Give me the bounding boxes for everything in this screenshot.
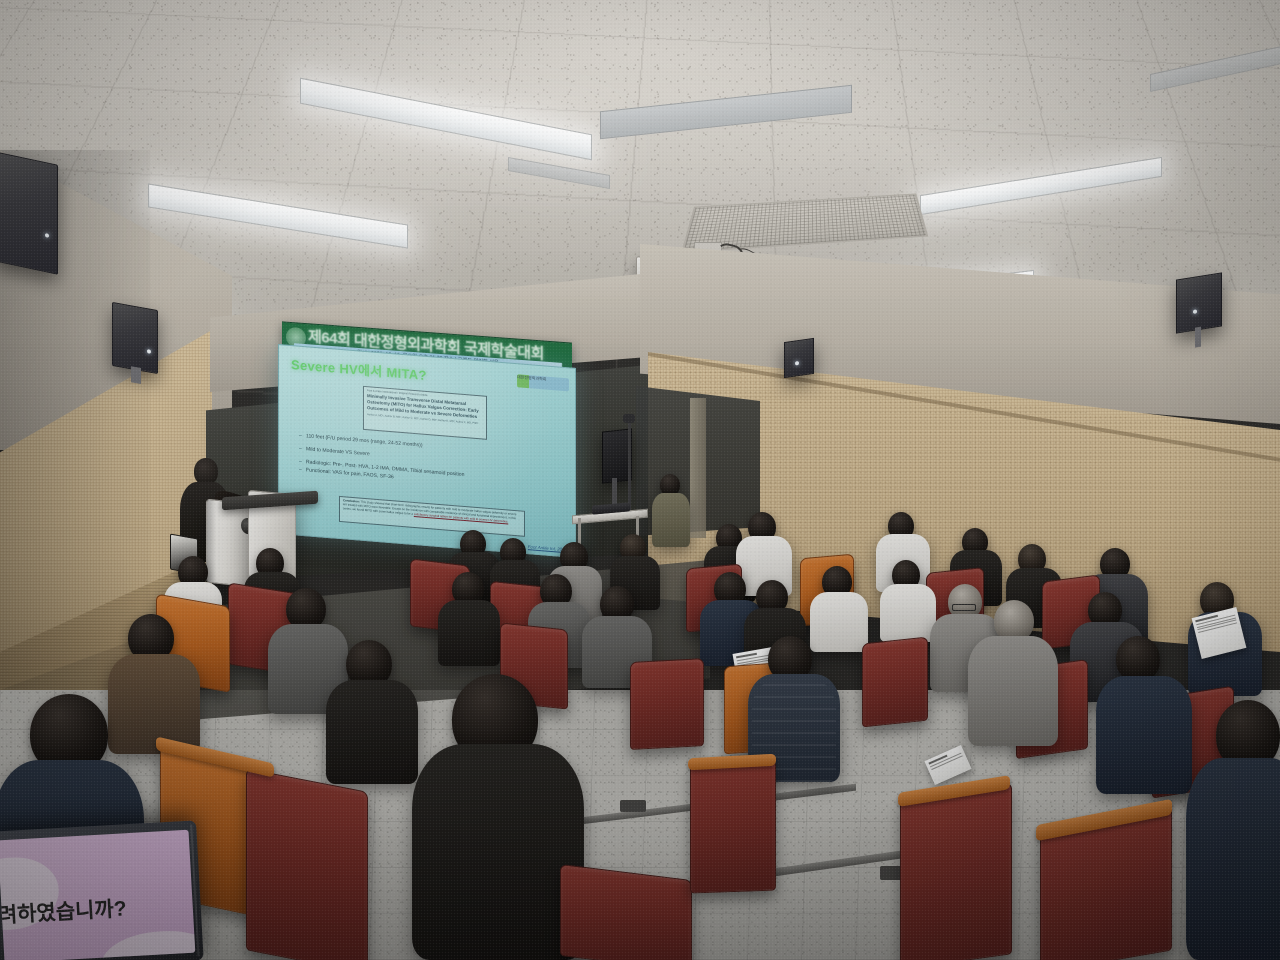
eyeglasses-icon (952, 604, 976, 611)
podium-edge-shadow (207, 500, 216, 583)
standing-staff-torso (652, 493, 690, 547)
presentation-tablet[interactable]: 려하였습니까? (0, 820, 204, 960)
handout-text-line (931, 755, 962, 770)
auditorium-seat[interactable] (630, 658, 704, 750)
auditorium-seat[interactable] (900, 782, 1012, 960)
audience-torso (438, 600, 500, 666)
audience-torso (412, 744, 584, 960)
speaker-led-icon (147, 349, 151, 354)
speaker-bracket (1195, 327, 1201, 348)
audience-torso (810, 592, 868, 652)
audience-torso (108, 654, 200, 754)
microphone-stand (628, 420, 631, 512)
seat-floor-anchor (620, 800, 646, 812)
tablet-screen[interactable]: 려하였습니까? (0, 830, 195, 960)
slide-conclusion-box: Conclusion: This study showed that short… (339, 496, 525, 537)
speaker-bracket (131, 366, 141, 384)
auditorium-photo: 제64회 대한정형외과학회 국제학술대회 일시 | 2023. 10. 19. … (0, 0, 1280, 960)
speaker-led-icon (45, 233, 49, 238)
presenter-head (194, 458, 218, 485)
audience-torso (968, 636, 1058, 746)
speaker-led-icon (795, 361, 799, 366)
microphone-head-icon (623, 414, 635, 423)
slide-title: Severe HV에서 MITA? (291, 354, 427, 384)
tablet-question-text: 려하였습니까? (0, 892, 127, 929)
speaker-led-icon (1193, 309, 1197, 314)
auditorium-seat[interactable] (690, 758, 776, 893)
standing-staff-group (650, 474, 694, 544)
tablet-decorative-blob (99, 928, 195, 960)
slide-conclusion-text: Conclusion: This study showed that short… (343, 499, 521, 525)
wall-speaker (1176, 272, 1222, 333)
audience-torso (1096, 676, 1192, 794)
wall-speaker (112, 302, 158, 374)
audience-torso (1186, 758, 1280, 960)
slide-bullet-text: 110 feet (F/U period 29 mos (range, 24-5… (306, 433, 423, 448)
wall-speaker (784, 338, 814, 378)
auditorium-seat[interactable] (862, 637, 928, 728)
auditorium-seat[interactable] (560, 864, 692, 960)
audience-torso (880, 584, 936, 642)
bullet-dash-icon: – (299, 433, 306, 440)
wall-speaker (0, 151, 58, 275)
auditorium-seat[interactable] (246, 768, 368, 960)
slide-paper-citation-box: Foot & Ankle International / Original Re… (363, 386, 487, 440)
slide-society-logo: 대한정형외과학회 (517, 374, 569, 391)
audience-torso (326, 680, 418, 784)
